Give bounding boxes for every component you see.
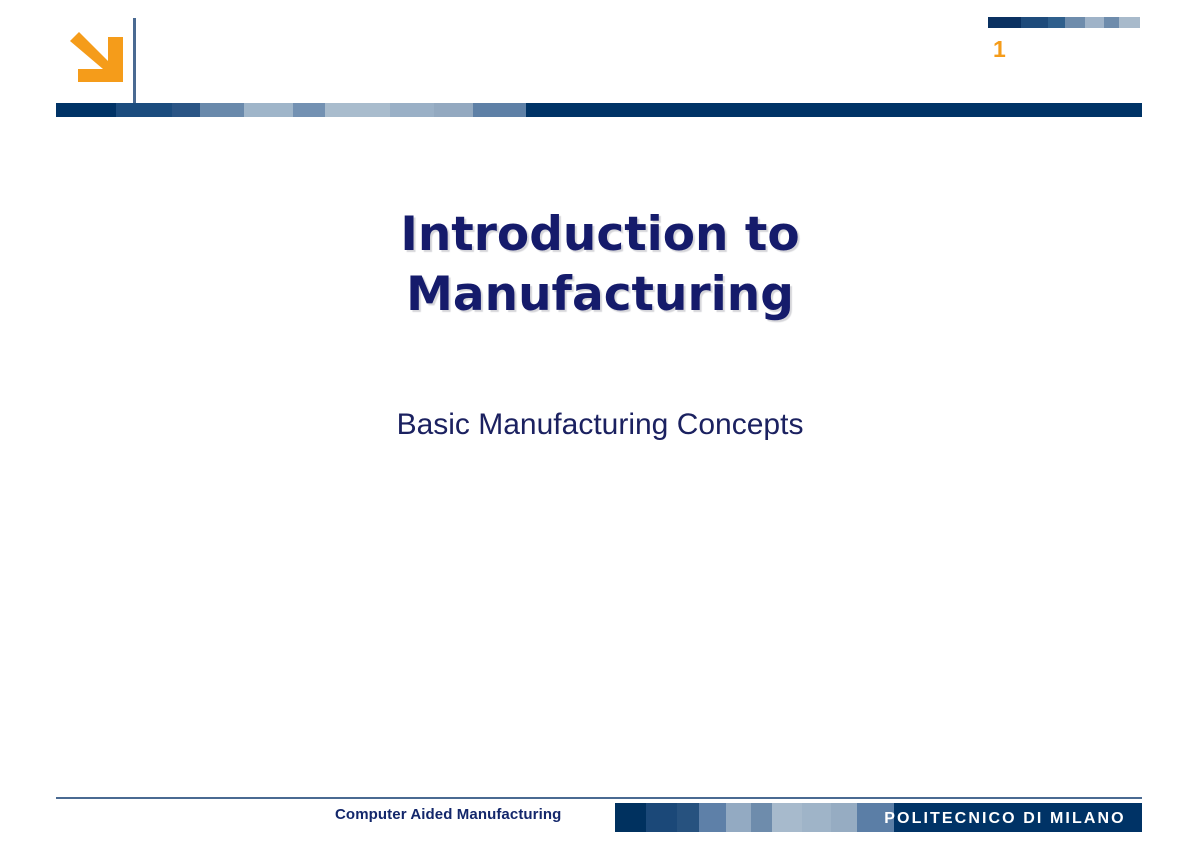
bar-segment — [1119, 17, 1140, 28]
bar-segment — [726, 803, 751, 832]
bar-segment — [325, 103, 390, 117]
bar-segment — [434, 103, 473, 117]
page-subtitle: Basic Manufacturing Concepts — [200, 408, 1000, 442]
bar-segment — [172, 103, 200, 117]
bar-segment — [646, 803, 677, 832]
subtitle-block: Basic Manufacturing Concepts — [200, 408, 1000, 442]
bar-segment — [831, 803, 857, 832]
bar-segment — [56, 103, 116, 117]
page-title: Introduction to Manufacturing — [200, 205, 1000, 325]
bar-segment — [390, 103, 434, 117]
bar-segment — [772, 803, 802, 832]
bar-segment — [988, 17, 1021, 28]
bar-segment — [1048, 17, 1065, 28]
slide-canvas: 1 Introduction to Manufacturing Basic Ma… — [0, 0, 1200, 848]
page-number: 1 — [993, 36, 1005, 63]
bar-segment — [116, 103, 172, 117]
bar-segment — [1021, 17, 1048, 28]
bar-segment — [473, 103, 526, 117]
bar-segment — [526, 103, 1142, 117]
bar-segment — [200, 103, 244, 117]
bar-segment — [293, 103, 325, 117]
footer-divider — [56, 797, 1142, 799]
arrow-down-right-icon — [62, 24, 128, 86]
bar-segment — [802, 803, 831, 832]
footer-course-label: Computer Aided Manufacturing — [335, 806, 561, 823]
bar-segment — [677, 803, 699, 832]
bar-segment — [244, 103, 293, 117]
corner-gradient-bar — [988, 17, 1140, 28]
title-block: Introduction to Manufacturing — [200, 205, 1000, 325]
bar-segment — [699, 803, 726, 832]
header-vertical-divider — [133, 18, 136, 110]
header-gradient-bar — [56, 103, 1142, 117]
bar-segment — [1065, 17, 1085, 28]
bar-segment — [1085, 17, 1104, 28]
footer-brand-label: POLITECNICO DI MILANO — [880, 810, 1130, 828]
bar-segment — [615, 803, 646, 832]
bar-segment — [1104, 17, 1119, 28]
bar-segment — [751, 803, 772, 832]
